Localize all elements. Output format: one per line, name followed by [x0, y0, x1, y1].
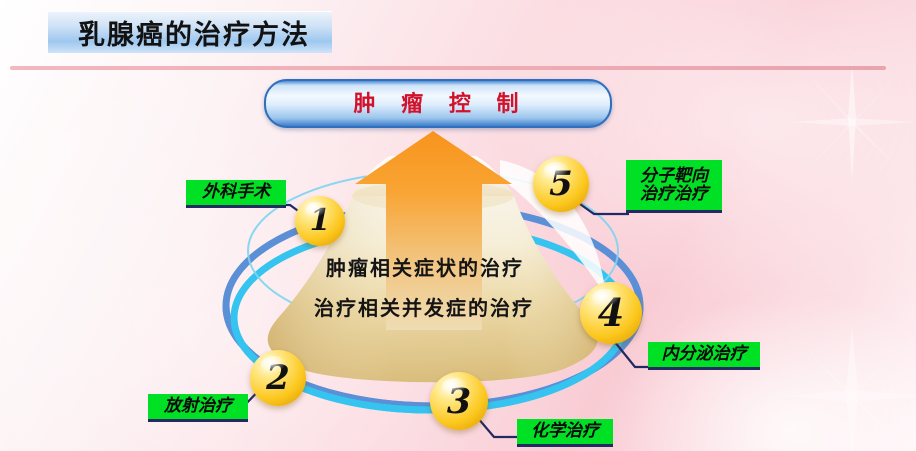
node-number-1: 1	[310, 206, 331, 236]
node-sphere-1[interactable]: 1	[295, 196, 345, 246]
center-caption-1: 肿瘤相关症状的治疗	[326, 252, 524, 281]
label-node-5-line-1: 分子靶向	[640, 167, 708, 185]
node-sphere-3[interactable]: 3	[430, 372, 488, 430]
label-node-3[interactable]: 化学治疗	[517, 419, 613, 444]
node-number-5: 5	[549, 167, 573, 201]
label-underline-3	[517, 444, 613, 447]
label-underline-5	[626, 210, 722, 213]
node-sphere-4[interactable]: 4	[580, 282, 642, 344]
label-node-4[interactable]: 内分泌治疗	[648, 342, 760, 367]
slide-canvas: 乳腺癌的治疗方法 肿 瘤 控 制	[0, 0, 916, 451]
label-underline-1	[186, 205, 286, 208]
label-node-3-line-1: 化学治疗	[531, 422, 599, 440]
node-number-4: 4	[598, 294, 624, 332]
label-node-1[interactable]: 外科手术	[186, 180, 286, 205]
label-node-1-line-1: 外科手术	[202, 183, 270, 201]
label-node-2-line-1: 放射治疗	[164, 397, 232, 415]
center-caption-2: 治疗相关并发症的治疗	[314, 292, 534, 321]
label-node-5[interactable]: 分子靶向 治疗治疗	[626, 160, 722, 210]
node-sphere-5[interactable]: 5	[533, 156, 589, 212]
label-node-4-line-1: 内分泌治疗	[662, 345, 747, 363]
node-sphere-2[interactable]: 2	[250, 350, 306, 406]
label-underline-4	[648, 367, 760, 370]
node-number-3: 3	[447, 384, 471, 419]
label-underline-2	[148, 419, 248, 422]
node-number-2: 2	[266, 361, 290, 395]
label-node-5-line-2: 治疗治疗	[640, 185, 708, 203]
label-node-2[interactable]: 放射治疗	[148, 394, 248, 419]
